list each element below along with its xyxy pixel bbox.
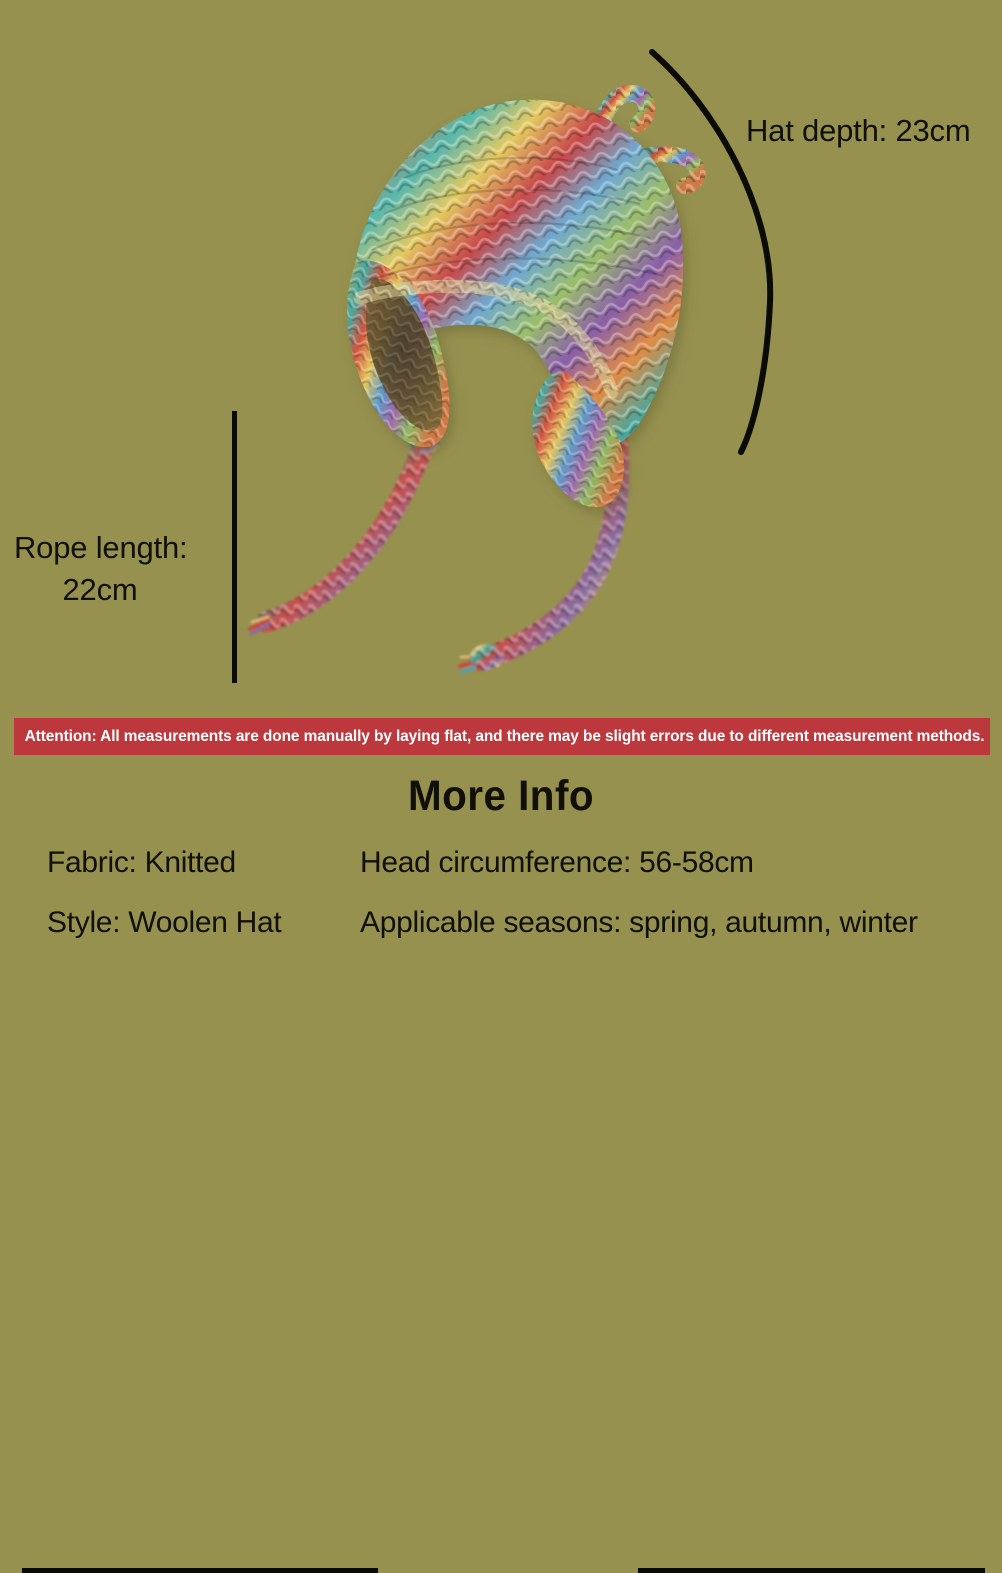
divider-right <box>638 1568 985 1573</box>
spec-head-circumference: Head circumference: 56-58cm <box>360 846 754 880</box>
spec-style: Style: Woolen Hat <box>47 906 281 940</box>
specs-list: Fabric: Knitted Head circumference: 56-5… <box>0 846 1002 966</box>
rope-length-label-line2: 22cm <box>14 569 214 611</box>
spec-row: Style: Woolen Hat Applicable seasons: sp… <box>0 906 1002 966</box>
rope-length-measure-line <box>232 411 237 683</box>
more-info-title: More Info <box>30 772 972 821</box>
divider-left <box>22 1568 378 1573</box>
product-photo: Hat depth: 23cm Rope length: 22cm <box>0 0 1002 710</box>
infographic-page: Hat depth: 23cm Rope length: 22cm Attent… <box>0 0 1002 1002</box>
rope-length-label: Rope length: 22cm <box>14 527 214 611</box>
spec-seasons: Applicable seasons: spring, autumn, wint… <box>360 906 918 940</box>
attention-text: Attention: All measurements are done man… <box>14 728 984 746</box>
hat-depth-label: Hat depth: 23cm <box>746 113 970 149</box>
spec-row: Fabric: Knitted Head circumference: 56-5… <box>0 846 1002 906</box>
rope-length-label-line1: Rope length: <box>14 527 214 569</box>
hat-depth-arc-marker <box>620 30 820 480</box>
spec-fabric: Fabric: Knitted <box>47 846 236 880</box>
attention-banner: Attention: All measurements are done man… <box>14 718 990 755</box>
